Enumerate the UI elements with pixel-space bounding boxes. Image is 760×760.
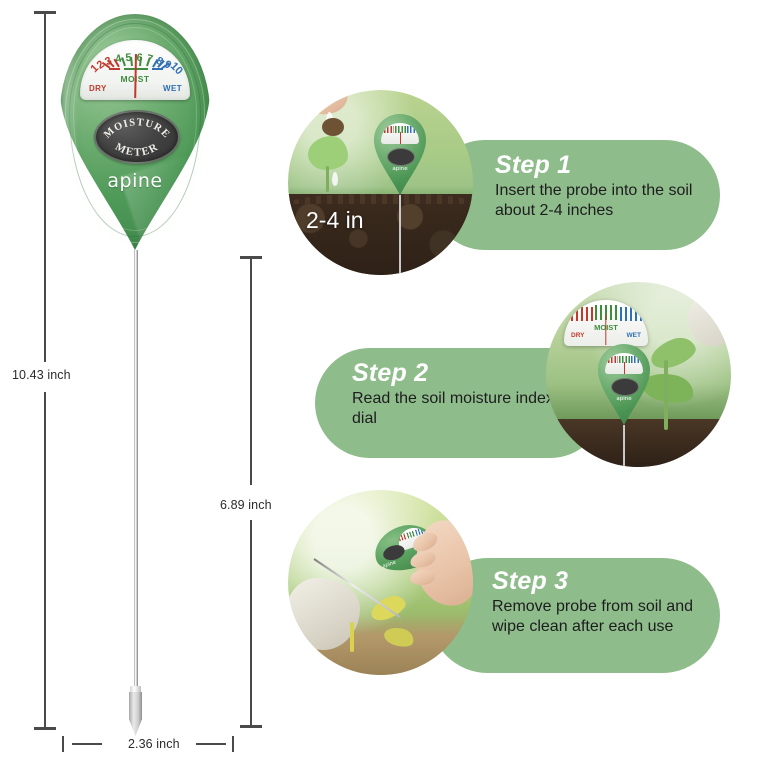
water-drop	[332, 172, 338, 186]
dimension-probe-length-label: 6.89 inch	[220, 498, 272, 512]
probe-dimension-cap-bottom	[240, 725, 262, 728]
dimension-line-lower	[44, 392, 46, 728]
step-2-title: Step 2	[352, 360, 577, 386]
gauge-label-wet: WET	[163, 84, 182, 93]
soil-bed	[288, 194, 473, 275]
dimension-head-width-label: 2.36 inch	[128, 737, 180, 751]
mini-brand-text: apine	[598, 396, 650, 402]
meter-highlight	[63, 42, 79, 162]
probe-dimension-line-upper	[250, 259, 252, 485]
gauge-tick	[122, 57, 126, 66]
moisture-meter-device: 12345678910 MOIST DRY WET MOISTURE METER	[60, 14, 210, 254]
step-1-photo: apine 2-4 in	[288, 90, 473, 275]
gauge-label-dry: DRY	[89, 84, 107, 93]
gauge-tick	[130, 57, 132, 66]
soil-bed	[546, 419, 731, 467]
mini-meter-badge	[611, 378, 639, 396]
step-1-text-block: Step 1 Insert the probe into the soil ab…	[495, 152, 715, 221]
step-2-body: Read the soil moisture index on dial	[352, 389, 577, 429]
infographic-canvas: 10.43 inch 6.89 inch 2.36 inch 123456789…	[0, 0, 760, 760]
badge-label-bottom: METER	[113, 141, 161, 159]
brand-logo-text: apine	[60, 170, 210, 192]
mini-probe-shaft	[399, 195, 401, 275]
mini-brand-text: apine	[374, 166, 426, 172]
seedling-leaf	[308, 136, 348, 170]
zoomed-needle	[605, 315, 606, 345]
width-dimension-line-right	[196, 743, 226, 745]
dimension-cap-bottom	[34, 727, 56, 730]
sprout-stem	[350, 622, 354, 652]
mini-probe-shaft	[623, 425, 625, 467]
seedling-stem	[326, 166, 329, 192]
gauge-tick	[139, 57, 141, 66]
moisture-meter-badge: MOISTURE METER	[94, 110, 180, 164]
mini-meter-badge	[387, 148, 415, 166]
step-1-depth-overlay: 2-4 in	[306, 207, 364, 234]
probe-shaft	[134, 250, 138, 694]
soil-surface	[288, 194, 473, 204]
badge-label-top: MOISTURE	[102, 117, 172, 141]
badge-text-svg: MOISTURE METER	[96, 112, 178, 162]
dimension-total-length-label: 10.43 inch	[12, 368, 71, 382]
width-dimension-cap-right	[232, 736, 234, 752]
gauge-band-baseline	[109, 68, 121, 70]
held-brand-text: apine	[382, 560, 397, 570]
step-1-body: Insert the probe into the soil about 2-4…	[495, 181, 715, 221]
step-3-title: Step 3	[492, 568, 717, 594]
step-1-title: Step 1	[495, 152, 715, 178]
background-object	[688, 296, 731, 346]
gauge-dial: 12345678910 MOIST DRY WET	[80, 40, 190, 100]
probe-tip	[129, 692, 142, 736]
mini-gauge-dial	[605, 353, 643, 374]
gauge-dial-zoomed: MOIST DRY WET	[564, 300, 648, 346]
mini-meter-1: apine	[374, 114, 426, 195]
gauge-face: 12345678910 MOIST DRY WET	[80, 40, 190, 100]
step-2-photo: MOIST DRY WET apine	[546, 282, 731, 467]
width-dimension-cap-left	[62, 736, 64, 752]
gauge-band-baseline	[152, 68, 164, 70]
step-3-body: Remove probe from soil and wipe clean af…	[492, 597, 717, 637]
step-3-text-block: Step 3 Remove probe from soil and wipe c…	[492, 568, 717, 637]
mini-gauge-dial	[381, 123, 419, 144]
zoomed-label-wet: WET	[627, 332, 641, 339]
mini-meter-2: apine	[598, 344, 650, 425]
seed-husk	[322, 118, 344, 136]
step-2-text-block: Step 2 Read the soil moisture index on d…	[352, 360, 577, 429]
probe-dimension-line-lower	[250, 520, 252, 726]
zoomed-label-dry: DRY	[571, 332, 584, 339]
plant-stem	[664, 360, 668, 430]
plant-leaf	[647, 333, 699, 373]
width-dimension-line-left	[72, 743, 102, 745]
step-3-photo: apine	[288, 490, 473, 675]
gauge-tick	[146, 57, 150, 66]
dimension-line-upper	[44, 14, 46, 362]
